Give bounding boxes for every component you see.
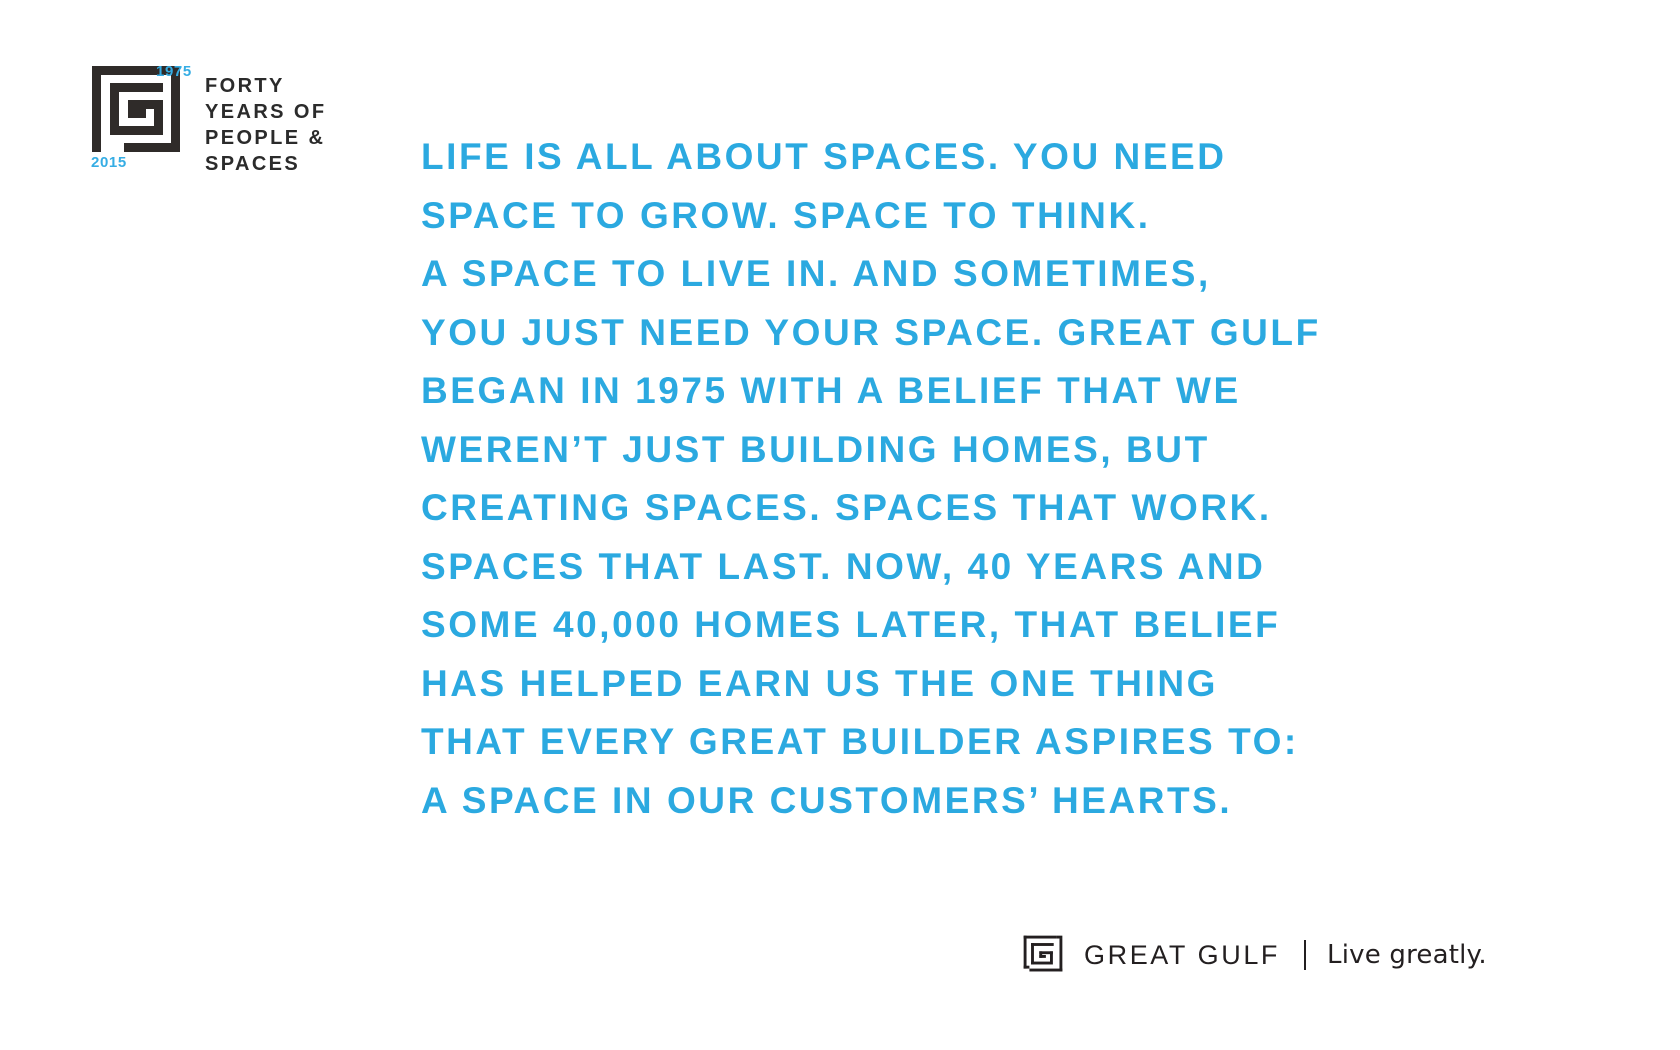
poster-canvas: 1975 2015 FORTY YEARS OF PEOPLE & SPACES… [0,0,1680,1050]
anniversary-year-end: 2015 [91,155,127,170]
anniversary-line-3: PEOPLE & [205,125,326,151]
headline-line: A SPACE IN OUR CUSTOMERS’ HEARTS. [421,772,1471,831]
brand-spiral-mark [1022,934,1064,976]
anniversary-line-4: SPACES [205,151,326,177]
anniversary-line-1: FORTY [205,73,326,99]
anniversary-lockup: 1975 2015 FORTY YEARS OF PEOPLE & SPACES [86,57,326,177]
headline-line: HAS HELPED EARN US THE ONE THING [421,655,1471,714]
headline-line: SOME 40,000 HOMES LATER, THAT BELIEF [421,596,1471,655]
brand-name: GREAT GULF [1084,940,1280,971]
anniversary-wordmark: FORTY YEARS OF PEOPLE & SPACES [205,73,326,177]
brand-divider [1304,940,1306,970]
headline-line: CREATING SPACES. SPACES THAT WORK. [421,479,1471,538]
headline-line: SPACE TO GROW. SPACE TO THINK. [421,187,1471,246]
spiral-mark-icon [1022,934,1064,976]
anniversary-spiral-mark: 1975 2015 [86,57,188,169]
headline-line: LIFE IS ALL ABOUT SPACES. YOU NEED [421,128,1471,187]
anniversary-line-2: YEARS OF [205,99,326,125]
headline-line: WEREN’T JUST BUILDING HOMES, BUT [421,421,1471,480]
headline-line: A SPACE TO LIVE IN. AND SOMETIMES, [421,245,1471,304]
headline-line: YOU JUST NEED YOUR SPACE. GREAT GULF [421,304,1471,363]
headline-line: THAT EVERY GREAT BUILDER ASPIRES TO: [421,713,1471,772]
brand-lockup: GREAT GULF Live greatly. [1022,934,1487,976]
headline-line: SPACES THAT LAST. NOW, 40 YEARS AND [421,538,1471,597]
brand-tagline: Live greatly. [1327,940,1487,970]
headline-copy-block: LIFE IS ALL ABOUT SPACES. YOU NEED SPACE… [421,128,1471,830]
anniversary-year-start: 1975 [156,64,192,79]
headline-line: BEGAN IN 1975 WITH A BELIEF THAT WE [421,362,1471,421]
